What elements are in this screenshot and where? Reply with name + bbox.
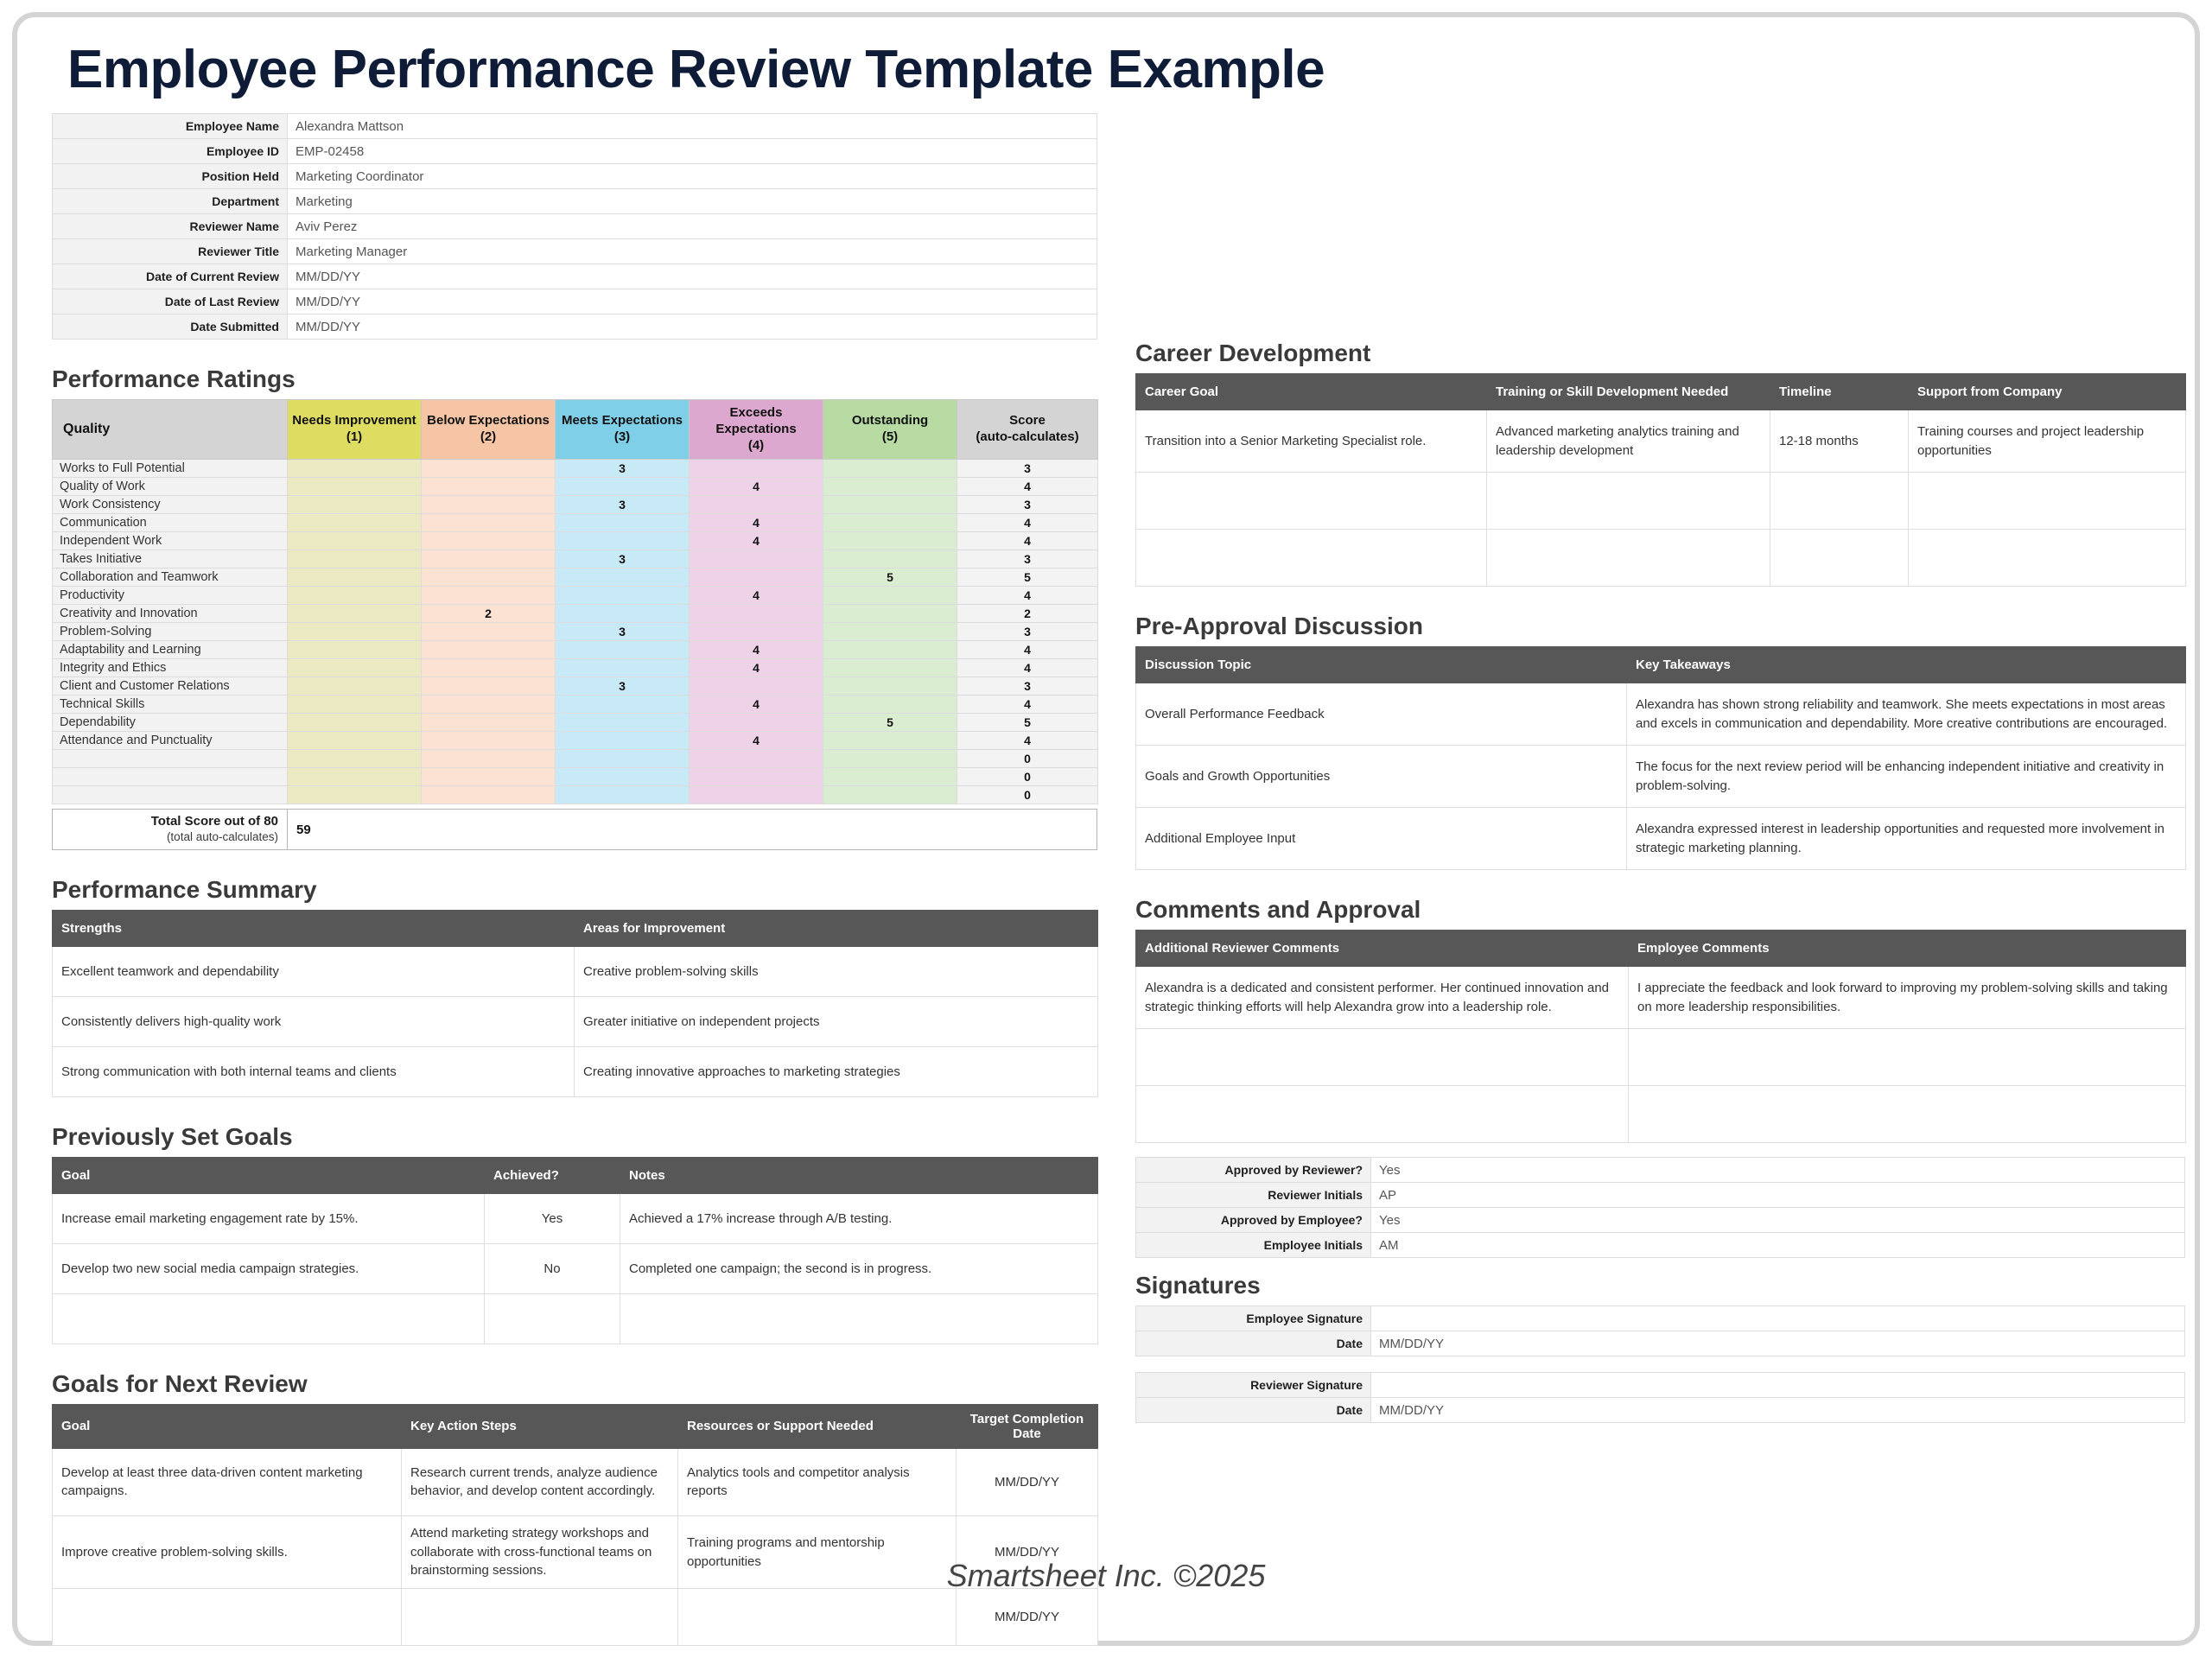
ratings-cell-exceeds-expectations[interactable] <box>690 768 823 786</box>
ratings-cell-outstanding[interactable] <box>823 532 957 550</box>
reviewer-signature-label-0: Reviewer Signature <box>1136 1373 1371 1398</box>
approval-value-0[interactable]: Yes <box>1371 1158 2185 1183</box>
ratings-cell-needs-improvement[interactable] <box>288 478 422 496</box>
prevgoals-row: Increase email marketing engagement rate… <box>53 1193 1098 1243</box>
ratings-cell-score: 4 <box>957 659 1098 677</box>
employee-info-value-0[interactable]: Alexandra Mattson <box>288 114 1097 139</box>
ratings-cell-exceeds-expectations[interactable] <box>690 786 823 804</box>
ratings-cell-meets-expectations[interactable] <box>556 786 690 804</box>
ratings-col-below-expectations-l2: (2) <box>480 429 496 444</box>
ratings-quality-name: Productivity <box>53 587 288 605</box>
summary-strength[interactable]: Strong communication with both internal … <box>53 1046 575 1096</box>
nextgoals-header-target-date: Target Completion Date <box>957 1404 1098 1448</box>
prevgoals-achieved[interactable] <box>485 1293 620 1344</box>
preapproval-header-takeaways: Key Takeaways <box>1627 647 2186 683</box>
employee-signature-value-1[interactable]: MM/DD/YY <box>1371 1331 2185 1356</box>
ratings-cell-outstanding[interactable] <box>823 786 957 804</box>
career-timeline[interactable]: 12-18 months <box>1770 410 1909 473</box>
employee-info-row: Employee NameAlexandra Mattson <box>53 114 1097 139</box>
total-score-table: Total Score out of 80 (total auto-calcul… <box>52 809 1097 850</box>
ratings-cell-outstanding[interactable] <box>823 641 957 659</box>
employee-info-value-8[interactable]: MM/DD/YY <box>288 314 1097 340</box>
career-goal[interactable] <box>1136 473 1487 530</box>
approval-row: Approved by Employee?Yes <box>1136 1208 2185 1233</box>
employee-info-label-1: Employee ID <box>53 139 288 164</box>
ratings-cell-needs-improvement[interactable] <box>288 460 422 478</box>
career-support[interactable] <box>1909 530 2186 587</box>
employee-signature-label-0: Employee Signature <box>1136 1306 1371 1331</box>
ratings-cell-needs-improvement[interactable] <box>288 569 422 587</box>
career-header-support: Support from Company <box>1909 374 2186 410</box>
ratings-cell-exceeds-expectations[interactable] <box>690 460 823 478</box>
ratings-cell-below-expectations[interactable] <box>422 659 556 677</box>
ratings-cell-outstanding[interactable]: 5 <box>823 714 957 732</box>
employee-info-table: Employee NameAlexandra MattsonEmployee I… <box>52 113 1097 340</box>
ratings-cell-exceeds-expectations[interactable] <box>690 569 823 587</box>
ratings-cell-below-expectations[interactable] <box>422 569 556 587</box>
employee-signature-label-1: Date <box>1136 1331 1371 1356</box>
approval-table: Approved by Reviewer?YesReviewer Initial… <box>1135 1157 2185 1258</box>
ratings-cell-below-expectations[interactable] <box>422 550 556 569</box>
ratings-cell-score: 4 <box>957 478 1098 496</box>
ratings-cell-outstanding[interactable] <box>823 750 957 768</box>
employee-signature-table: Employee SignatureDateMM/DD/YY <box>1135 1305 2185 1356</box>
ratings-cell-below-expectations[interactable] <box>422 478 556 496</box>
ratings-cell-meets-expectations[interactable]: 3 <box>556 496 690 514</box>
employee-info-value-1[interactable]: EMP-02458 <box>288 139 1097 164</box>
performance-summary-heading: Performance Summary <box>52 876 1097 904</box>
summary-header-strengths: Strengths <box>53 910 575 946</box>
nextgoals-steps[interactable] <box>402 1589 678 1646</box>
ratings-cell-score: 4 <box>957 514 1098 532</box>
career-header-goal: Career Goal <box>1136 374 1487 410</box>
ratings-cell-exceeds-expectations[interactable]: 4 <box>690 514 823 532</box>
ratings-row: Collaboration and Teamwork55 <box>53 569 1098 587</box>
ratings-cell-exceeds-expectations[interactable]: 4 <box>690 478 823 496</box>
ratings-row: Creativity and Innovation22 <box>53 605 1098 623</box>
ratings-cell-meets-expectations[interactable] <box>556 605 690 623</box>
approval-row: Reviewer InitialsAP <box>1136 1183 2185 1208</box>
approval-label-2: Approved by Employee? <box>1136 1208 1371 1233</box>
ratings-cell-needs-improvement[interactable] <box>288 514 422 532</box>
ratings-cell-score: 0 <box>957 768 1098 786</box>
comments-header-employee: Employee Comments <box>1629 931 2186 967</box>
ratings-cell-meets-expectations[interactable]: 3 <box>556 550 690 569</box>
ratings-cell-below-expectations[interactable] <box>422 514 556 532</box>
ratings-cell-meets-expectations[interactable] <box>556 532 690 550</box>
ratings-col-meets-expectations: Meets Expectations (3) <box>556 400 690 460</box>
signatures-heading: Signatures <box>1135 1272 2185 1299</box>
ratings-cell-meets-expectations[interactable]: 3 <box>556 460 690 478</box>
ratings-quality-name: Technical Skills <box>53 696 288 714</box>
ratings-col-below-expectations-l1: Below Expectations <box>427 413 550 428</box>
comments-employee[interactable] <box>1629 1029 2186 1086</box>
employee-info-row: Date of Current ReviewMM/DD/YY <box>53 264 1097 289</box>
ratings-cell-needs-improvement[interactable] <box>288 623 422 641</box>
employee-info-value-6[interactable]: MM/DD/YY <box>288 264 1097 289</box>
prevgoals-header-goal: Goal <box>53 1157 485 1193</box>
preapproval-header-topic: Discussion Topic <box>1136 647 1627 683</box>
ratings-cell-score: 3 <box>957 550 1098 569</box>
nextgoals-target-date[interactable]: MM/DD/YY <box>957 1448 1098 1515</box>
career-timeline[interactable] <box>1770 530 1909 587</box>
career-development-table: Career Goal Training or Skill Developmen… <box>1135 373 2186 587</box>
reviewer-signature-row: Reviewer Signature <box>1136 1373 2185 1398</box>
comments-reviewer[interactable] <box>1136 1029 1629 1086</box>
ratings-col-below-expectations: Below Expectations (2) <box>422 400 556 460</box>
ratings-cell-below-expectations[interactable] <box>422 587 556 605</box>
ratings-cell-needs-improvement[interactable] <box>288 750 422 768</box>
nextgoals-resources[interactable] <box>678 1589 957 1646</box>
nextgoals-header-goal: Goal <box>53 1404 402 1448</box>
employee-info-value-5[interactable]: Marketing Manager <box>288 239 1097 264</box>
ratings-cell-score: 4 <box>957 532 1098 550</box>
ratings-quality-name: Collaboration and Teamwork <box>53 569 288 587</box>
goals-next-review-heading: Goals for Next Review <box>52 1370 1097 1398</box>
ratings-cell-exceeds-expectations[interactable] <box>690 623 823 641</box>
ratings-cell-needs-improvement[interactable] <box>288 587 422 605</box>
ratings-cell-exceeds-expectations[interactable]: 4 <box>690 659 823 677</box>
ratings-cell-below-expectations[interactable] <box>422 677 556 696</box>
prevgoals-notes[interactable]: Achieved a 17% increase through A/B test… <box>620 1193 1098 1243</box>
ratings-cell-meets-expectations[interactable] <box>556 750 690 768</box>
ratings-row: 0 <box>53 786 1098 804</box>
reviewer-signature-row: DateMM/DD/YY <box>1136 1398 2185 1423</box>
preapproval-topic[interactable]: Additional Employee Input <box>1136 808 1627 870</box>
preapproval-row: Overall Performance FeedbackAlexandra ha… <box>1136 683 2186 746</box>
ratings-cell-outstanding[interactable] <box>823 478 957 496</box>
prevgoals-notes[interactable] <box>620 1293 1098 1344</box>
prevgoals-goal[interactable] <box>53 1293 485 1344</box>
reviewer-signature-label-1: Date <box>1136 1398 1371 1423</box>
performance-ratings-table: Quality Needs Improvement (1) Below Expe… <box>52 399 1098 804</box>
ratings-cell-score: 4 <box>957 732 1098 750</box>
comments-reviewer[interactable] <box>1136 1086 1629 1143</box>
career-goal[interactable]: Transition into a Senior Marketing Speci… <box>1136 410 1487 473</box>
ratings-cell-exceeds-expectations[interactable] <box>690 496 823 514</box>
nextgoals-steps[interactable]: Research current trends, analyze audienc… <box>402 1448 678 1515</box>
ratings-cell-below-expectations[interactable] <box>422 641 556 659</box>
ratings-cell-exceeds-expectations[interactable]: 4 <box>690 641 823 659</box>
career-timeline[interactable] <box>1770 473 1909 530</box>
ratings-quality-name <box>53 750 288 768</box>
ratings-cell-exceeds-expectations[interactable] <box>690 750 823 768</box>
ratings-cell-outstanding[interactable] <box>823 677 957 696</box>
ratings-row: Integrity and Ethics44 <box>53 659 1098 677</box>
ratings-quality-name: Dependability <box>53 714 288 732</box>
employee-info-row: Reviewer NameAviv Perez <box>53 214 1097 239</box>
ratings-cell-below-expectations[interactable] <box>422 714 556 732</box>
ratings-row: Takes Initiative33 <box>53 550 1098 569</box>
prevgoals-goal[interactable]: Increase email marketing engagement rate… <box>53 1193 485 1243</box>
ratings-cell-exceeds-expectations[interactable]: 4 <box>690 732 823 750</box>
career-support[interactable]: Training courses and project leadership … <box>1909 410 2186 473</box>
approval-label-1: Reviewer Initials <box>1136 1183 1371 1208</box>
ratings-cell-outstanding[interactable] <box>823 696 957 714</box>
comments-employee[interactable] <box>1629 1086 2186 1143</box>
ratings-col-score-l1: Score <box>1009 413 1046 428</box>
total-score-sublabel: (total auto-calculates) <box>61 830 278 845</box>
employee-info-value-4[interactable]: Aviv Perez <box>288 214 1097 239</box>
employee-info-row: Reviewer TitleMarketing Manager <box>53 239 1097 264</box>
approval-row: Employee InitialsAM <box>1136 1233 2185 1258</box>
ratings-cell-outstanding[interactable] <box>823 460 957 478</box>
ratings-cell-meets-expectations[interactable] <box>556 732 690 750</box>
ratings-cell-score: 3 <box>957 623 1098 641</box>
ratings-cell-below-expectations[interactable] <box>422 750 556 768</box>
ratings-quality-name: Communication <box>53 514 288 532</box>
ratings-cell-meets-expectations[interactable]: 3 <box>556 677 690 696</box>
ratings-cell-score: 4 <box>957 696 1098 714</box>
preapproval-takeaway[interactable]: Alexandra has shown strong reliability a… <box>1627 683 2186 746</box>
ratings-cell-meets-expectations[interactable] <box>556 768 690 786</box>
ratings-row: Communication44 <box>53 514 1098 532</box>
career-development-heading: Career Development <box>1135 340 2185 367</box>
comments-reviewer[interactable]: Alexandra is a dedicated and consistent … <box>1136 967 1629 1029</box>
summary-row: Strong communication with both internal … <box>53 1046 1098 1096</box>
performance-summary-table: Strengths Areas for Improvement Excellen… <box>52 910 1098 1097</box>
ratings-col-outstanding-l2: (5) <box>882 429 898 444</box>
ratings-cell-meets-expectations[interactable] <box>556 714 690 732</box>
prevgoals-goal[interactable]: Develop two new social media campaign st… <box>53 1243 485 1293</box>
ratings-cell-meets-expectations[interactable] <box>556 587 690 605</box>
ratings-cell-outstanding[interactable] <box>823 623 957 641</box>
ratings-cell-outstanding[interactable] <box>823 732 957 750</box>
comments-employee[interactable]: I appreciate the feedback and look forwa… <box>1629 967 2186 1029</box>
ratings-cell-meets-expectations[interactable] <box>556 569 690 587</box>
ratings-cell-score: 5 <box>957 569 1098 587</box>
approval-row: Approved by Reviewer?Yes <box>1136 1158 2185 1183</box>
ratings-cell-needs-improvement[interactable] <box>288 714 422 732</box>
employee-signature-row: Employee Signature <box>1136 1306 2185 1331</box>
summary-strength[interactable]: Excellent teamwork and dependability <box>53 946 575 996</box>
ratings-cell-below-expectations[interactable]: 2 <box>422 605 556 623</box>
employee-info-label-5: Reviewer Title <box>53 239 288 264</box>
prevgoals-achieved[interactable]: No <box>485 1243 620 1293</box>
ratings-quality-name: Integrity and Ethics <box>53 659 288 677</box>
total-score-value: 59 <box>288 810 1097 850</box>
nextgoals-goal[interactable]: Develop at least three data-driven conte… <box>53 1448 402 1515</box>
ratings-cell-needs-improvement[interactable] <box>288 641 422 659</box>
page-title: Employee Performance Review Template Exa… <box>67 41 2160 98</box>
ratings-cell-needs-improvement[interactable] <box>288 605 422 623</box>
ratings-cell-needs-improvement[interactable] <box>288 550 422 569</box>
goals-next-review-table: Goal Key Action Steps Resources or Suppo… <box>52 1404 1098 1646</box>
ratings-cell-outstanding[interactable] <box>823 587 957 605</box>
ratings-cell-score: 3 <box>957 677 1098 696</box>
reviewer-signature-value-1[interactable]: MM/DD/YY <box>1371 1398 2185 1423</box>
prevgoals-achieved[interactable]: Yes <box>485 1193 620 1243</box>
career-goal[interactable] <box>1136 530 1487 587</box>
nextgoals-row: Develop at least three data-driven conte… <box>53 1448 1098 1515</box>
ratings-cell-meets-expectations[interactable] <box>556 659 690 677</box>
ratings-row: Dependability55 <box>53 714 1098 732</box>
employee-info-row: Employee IDEMP-02458 <box>53 139 1097 164</box>
ratings-cell-score: 0 <box>957 786 1098 804</box>
employee-info-value-3[interactable]: Marketing <box>288 189 1097 214</box>
previously-set-goals-table: Goal Achieved? Notes Increase email mark… <box>52 1157 1098 1344</box>
summary-area[interactable]: Creative problem-solving skills <box>575 946 1098 996</box>
nextgoals-resources[interactable]: Analytics tools and competitor analysis … <box>678 1448 957 1515</box>
ratings-cell-needs-improvement[interactable] <box>288 696 422 714</box>
summary-header-areas: Areas for Improvement <box>575 910 1098 946</box>
ratings-cell-outstanding[interactable] <box>823 514 957 532</box>
ratings-cell-exceeds-expectations[interactable]: 4 <box>690 696 823 714</box>
ratings-cell-score: 4 <box>957 641 1098 659</box>
ratings-col-score: Score (auto-calculates) <box>957 400 1098 460</box>
ratings-cell-below-expectations[interactable] <box>422 786 556 804</box>
employee-info-label-7: Date of Last Review <box>53 289 288 314</box>
ratings-cell-needs-improvement[interactable] <box>288 768 422 786</box>
comments-header-reviewer: Additional Reviewer Comments <box>1136 931 1629 967</box>
ratings-cell-below-expectations[interactable] <box>422 732 556 750</box>
comments-row: Alexandra is a dedicated and consistent … <box>1136 967 2186 1029</box>
footer-copyright: Smartsheet Inc. ©2025 <box>17 1558 2195 1594</box>
ratings-col-quality: Quality <box>53 400 288 460</box>
ratings-cell-below-expectations[interactable] <box>422 768 556 786</box>
approval-label-3: Employee Initials <box>1136 1233 1371 1258</box>
ratings-row: Adaptability and Learning44 <box>53 641 1098 659</box>
employee-info-value-2[interactable]: Marketing Coordinator <box>288 164 1097 189</box>
ratings-cell-outstanding[interactable] <box>823 605 957 623</box>
ratings-row: Productivity44 <box>53 587 1098 605</box>
preapproval-topic[interactable]: Overall Performance Feedback <box>1136 683 1627 746</box>
approval-value-1[interactable]: AP <box>1371 1183 2185 1208</box>
prevgoals-row <box>53 1293 1098 1344</box>
approval-label-0: Approved by Reviewer? <box>1136 1158 1371 1183</box>
approval-value-2[interactable]: Yes <box>1371 1208 2185 1233</box>
ratings-cell-below-expectations[interactable] <box>422 532 556 550</box>
ratings-row: Attendance and Punctuality44 <box>53 732 1098 750</box>
ratings-cell-meets-expectations[interactable] <box>556 696 690 714</box>
comments-approval-heading: Comments and Approval <box>1135 896 2185 924</box>
ratings-quality-name: Work Consistency <box>53 496 288 514</box>
ratings-quality-name: Adaptability and Learning <box>53 641 288 659</box>
ratings-row: Client and Customer Relations33 <box>53 677 1098 696</box>
ratings-cell-below-expectations[interactable] <box>422 496 556 514</box>
ratings-cell-below-expectations[interactable] <box>422 696 556 714</box>
summary-row: Excellent teamwork and dependabilityCrea… <box>53 946 1098 996</box>
reviewer-signature-table: Reviewer SignatureDateMM/DD/YY <box>1135 1372 2185 1423</box>
ratings-col-needs-improvement-l1: Needs Improvement <box>292 413 416 428</box>
ratings-cell-meets-expectations[interactable]: 3 <box>556 623 690 641</box>
ratings-row: Quality of Work44 <box>53 478 1098 496</box>
ratings-cell-outstanding[interactable] <box>823 496 957 514</box>
career-support[interactable] <box>1909 473 2186 530</box>
prevgoals-header-achieved: Achieved? <box>485 1157 620 1193</box>
prevgoals-header-notes: Notes <box>620 1157 1098 1193</box>
nextgoals-target-date[interactable]: MM/DD/YY <box>957 1589 1098 1646</box>
ratings-row: Problem-Solving33 <box>53 623 1098 641</box>
ratings-cell-exceeds-expectations[interactable]: 4 <box>690 532 823 550</box>
ratings-quality-name: Client and Customer Relations <box>53 677 288 696</box>
ratings-col-exceeds-expectations: Exceeds Expectations (4) <box>690 400 823 460</box>
right-column: Career Development Career Goal Training … <box>1135 113 2185 1423</box>
career-training[interactable] <box>1487 530 1770 587</box>
ratings-cell-score: 4 <box>957 587 1098 605</box>
nextgoals-header-resources: Resources or Support Needed <box>678 1404 957 1448</box>
total-score-label-cell: Total Score out of 80 (total auto-calcul… <box>53 810 288 850</box>
left-column: Employee NameAlexandra MattsonEmployee I… <box>52 113 1097 1646</box>
employee-info-label-3: Department <box>53 189 288 214</box>
ratings-cell-needs-improvement[interactable] <box>288 659 422 677</box>
employee-info-row: Date of Last ReviewMM/DD/YY <box>53 289 1097 314</box>
employee-info-label-2: Position Held <box>53 164 288 189</box>
approval-value-3[interactable]: AM <box>1371 1233 2185 1258</box>
summary-row: Consistently delivers high-quality workG… <box>53 996 1098 1046</box>
ratings-quality-name: Attendance and Punctuality <box>53 732 288 750</box>
ratings-cell-meets-expectations[interactable] <box>556 514 690 532</box>
summary-strength[interactable]: Consistently delivers high-quality work <box>53 996 575 1046</box>
career-training[interactable] <box>1487 473 1770 530</box>
ratings-quality-name: Works to Full Potential <box>53 460 288 478</box>
career-training[interactable]: Advanced marketing analytics training an… <box>1487 410 1770 473</box>
ratings-col-exceeds-expectations-l1: Exceeds Expectations <box>715 405 796 436</box>
document-page: Employee Performance Review Template Exa… <box>12 12 2200 1646</box>
ratings-cell-exceeds-expectations[interactable] <box>690 605 823 623</box>
summary-area[interactable]: Greater initiative on independent projec… <box>575 996 1098 1046</box>
employee-info-label-0: Employee Name <box>53 114 288 139</box>
ratings-row: 0 <box>53 768 1098 786</box>
previously-set-goals-heading: Previously Set Goals <box>52 1123 1097 1151</box>
ratings-quality-name: Takes Initiative <box>53 550 288 569</box>
ratings-cell-outstanding[interactable] <box>823 768 957 786</box>
nextgoals-goal[interactable] <box>53 1589 402 1646</box>
employee-info-label-8: Date Submitted <box>53 314 288 340</box>
employee-info-row: DepartmentMarketing <box>53 189 1097 214</box>
ratings-row: 0 <box>53 750 1098 768</box>
preapproval-row: Goals and Growth OpportunitiesThe focus … <box>1136 746 2186 808</box>
pre-approval-table: Discussion Topic Key Takeaways Overall P… <box>1135 646 2186 870</box>
ratings-cell-needs-improvement[interactable] <box>288 496 422 514</box>
ratings-cell-meets-expectations[interactable] <box>556 478 690 496</box>
ratings-quality-name: Independent Work <box>53 532 288 550</box>
ratings-cell-meets-expectations[interactable] <box>556 641 690 659</box>
ratings-cell-outstanding[interactable]: 5 <box>823 569 957 587</box>
ratings-cell-exceeds-expectations[interactable] <box>690 714 823 732</box>
employee-info-label-4: Reviewer Name <box>53 214 288 239</box>
employee-signature-value-0[interactable] <box>1371 1306 2185 1331</box>
ratings-cell-exceeds-expectations[interactable]: 4 <box>690 587 823 605</box>
performance-ratings-heading: Performance Ratings <box>52 365 1097 393</box>
preapproval-topic[interactable]: Goals and Growth Opportunities <box>1136 746 1627 808</box>
ratings-cell-outstanding[interactable] <box>823 550 957 569</box>
ratings-cell-needs-improvement[interactable] <box>288 732 422 750</box>
ratings-cell-needs-improvement[interactable] <box>288 532 422 550</box>
reviewer-signature-value-0[interactable] <box>1371 1373 2185 1398</box>
ratings-cell-needs-improvement[interactable] <box>288 786 422 804</box>
ratings-row: Work Consistency33 <box>53 496 1098 514</box>
summary-area[interactable]: Creating innovative approaches to market… <box>575 1046 1098 1096</box>
preapproval-takeaway[interactable]: The focus for the next review period wil… <box>1627 746 2186 808</box>
ratings-cell-below-expectations[interactable] <box>422 623 556 641</box>
ratings-cell-needs-improvement[interactable] <box>288 677 422 696</box>
ratings-cell-below-expectations[interactable] <box>422 460 556 478</box>
preapproval-takeaway[interactable]: Alexandra expressed interest in leadersh… <box>1627 808 2186 870</box>
ratings-cell-outstanding[interactable] <box>823 659 957 677</box>
ratings-cell-score: 5 <box>957 714 1098 732</box>
ratings-cell-exceeds-expectations[interactable] <box>690 677 823 696</box>
employee-info-value-7[interactable]: MM/DD/YY <box>288 289 1097 314</box>
ratings-cell-exceeds-expectations[interactable] <box>690 550 823 569</box>
ratings-quality-name <box>53 786 288 804</box>
preapproval-row: Additional Employee InputAlexandra expre… <box>1136 808 2186 870</box>
ratings-row: Technical Skills44 <box>53 696 1098 714</box>
ratings-row: Works to Full Potential33 <box>53 460 1098 478</box>
comments-approval-table: Additional Reviewer Comments Employee Co… <box>1135 930 2186 1143</box>
ratings-row: Independent Work44 <box>53 532 1098 550</box>
prevgoals-notes[interactable]: Completed one campaign; the second is in… <box>620 1243 1098 1293</box>
